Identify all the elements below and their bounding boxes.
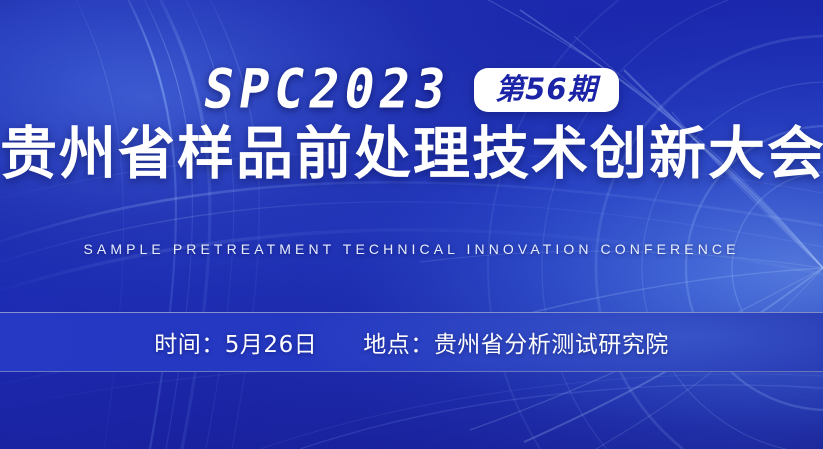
- page-title: 贵州省样品前处理技术创新大会: [0, 122, 823, 188]
- info-band: 时间：5月26日 地点：贵州省分析测试研究院: [0, 312, 823, 372]
- mid-ribbon-group: [0, 151, 823, 414]
- brand-code-logo: SPC2023: [200, 62, 454, 116]
- event-venue-label: 地点：贵州省分析测试研究院: [363, 325, 669, 359]
- subtitle-english: SAMPLE PRETREATMENT TECHNICAL INNOVATION…: [0, 241, 823, 257]
- bottom-arc-group: [260, 374, 823, 449]
- headline-row: SPC2023 第56期: [0, 57, 823, 121]
- issue-badge: 第56期: [474, 68, 618, 112]
- issue-badge-label: 第56期: [495, 74, 597, 104]
- info-band-content: 时间：5月26日 地点：贵州省分析测试研究院: [154, 325, 668, 359]
- event-time-label: 时间：5月26日: [154, 325, 317, 359]
- conference-poster: SPC2023 第56期 贵州省样品前处理技术创新大会 SAMPLE PRETR…: [0, 0, 823, 449]
